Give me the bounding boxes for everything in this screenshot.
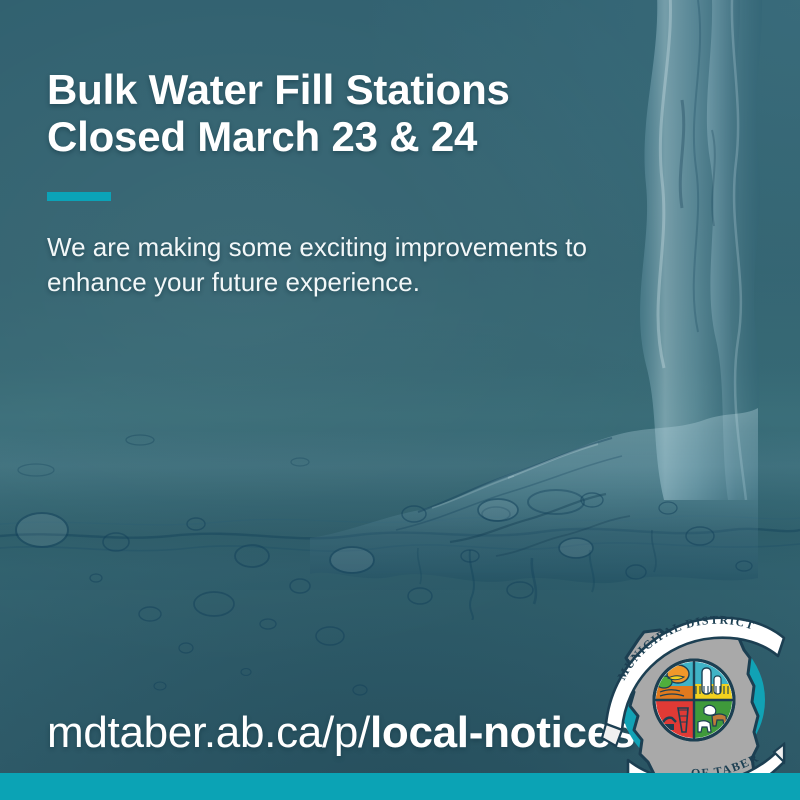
md-taber-logo[interactable]: MUNICIPAL DISTRICT OF TABER bbox=[598, 612, 784, 790]
accent-rule bbox=[47, 192, 111, 201]
website-url[interactable]: mdtaber.ab.ca/p/local-notices bbox=[47, 711, 635, 755]
url-emphasis: local-notices bbox=[370, 708, 635, 757]
poster: Bulk Water Fill Stations Closed March 23… bbox=[0, 0, 800, 800]
headline-line-1: Bulk Water Fill Stations bbox=[47, 66, 707, 113]
subheadline-line-1: We are making some exciting improvements… bbox=[47, 230, 667, 265]
crest-emblem bbox=[654, 660, 734, 740]
subheadline-line-2: enhance your future experience. bbox=[47, 265, 667, 300]
headline: Bulk Water Fill Stations Closed March 23… bbox=[47, 66, 707, 160]
subheadline: We are making some exciting improvements… bbox=[47, 230, 667, 299]
url-prefix: mdtaber.ab.ca/p/ bbox=[47, 708, 370, 757]
headline-line-2: Closed March 23 & 24 bbox=[47, 113, 707, 160]
bottom-accent-bar bbox=[0, 773, 800, 800]
